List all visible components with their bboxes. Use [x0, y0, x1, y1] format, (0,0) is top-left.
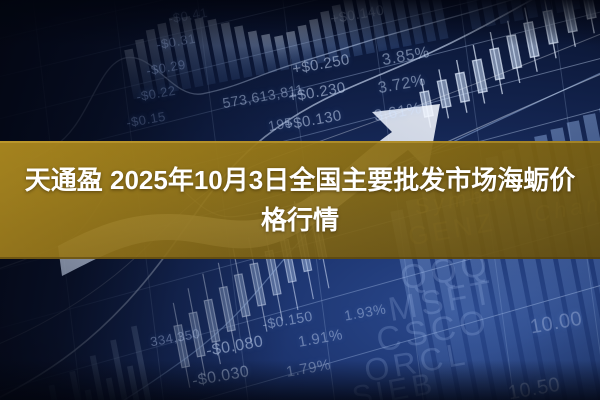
top-fade: [0, 0, 600, 46]
banner-image: QQQ MSFT CSCO ORCL SIEB GENZ Symbol Chan…: [0, 0, 600, 400]
page-title: 天通盈 2025年10月3日全国主要批发市场海蛎价格行情: [0, 141, 600, 259]
bottom-fade: [0, 360, 600, 400]
